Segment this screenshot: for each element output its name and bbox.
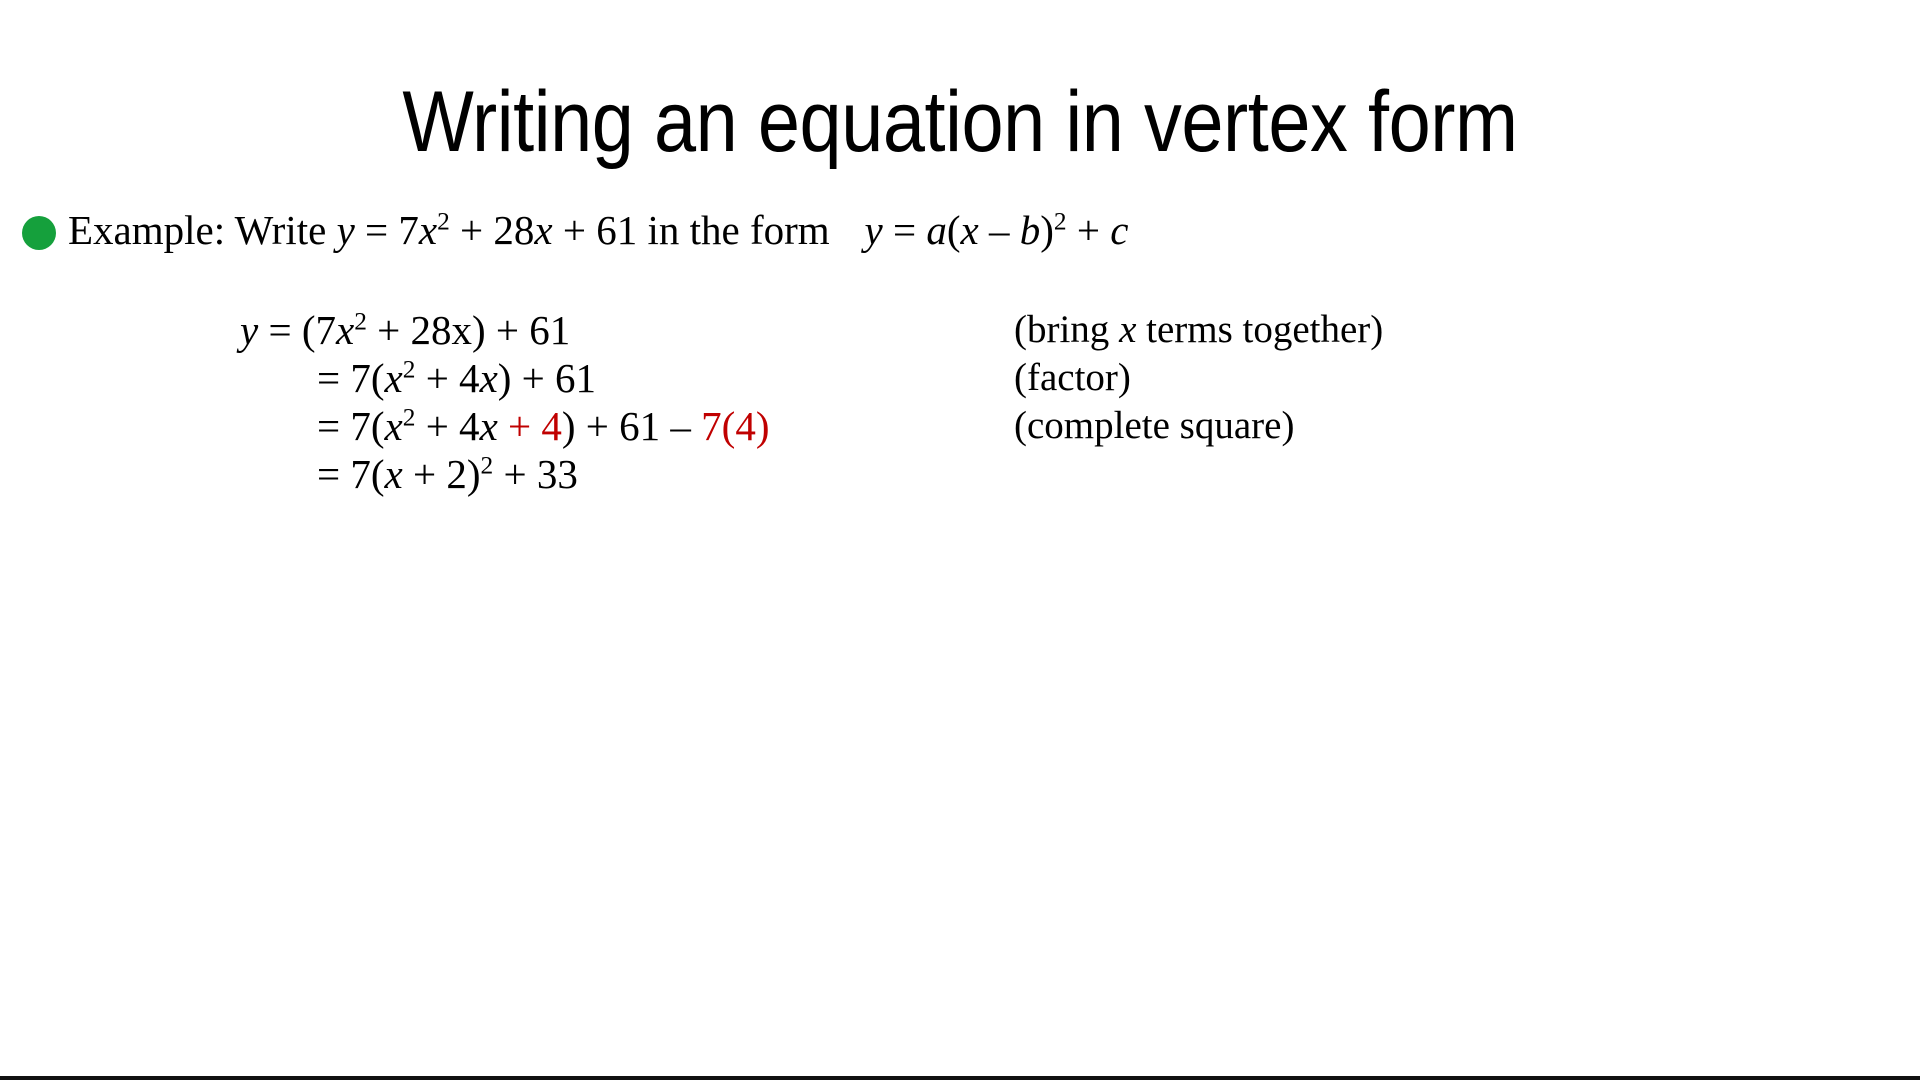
derivation-block: y = (7x2 + 28x) + 61 (bring x terms toge… <box>0 306 1920 498</box>
derivation-row: = 7(x + 2)2 + 33 <box>0 450 1920 498</box>
derivation-equation: y = (7x2 + 28x) + 61 <box>240 306 570 354</box>
derivation-note: (bring x terms together) <box>1014 306 1383 354</box>
slide: Writing an equation in vertex form Examp… <box>0 0 1920 1080</box>
page-title: Writing an equation in vertex form <box>115 74 1805 170</box>
derivation-row: = 7(x2 + 4x) + 61 (factor) <box>0 354 1920 402</box>
derivation-note: (complete square) <box>1014 402 1294 450</box>
example-bullet-row: Example: Write y = 7x2 + 28x + 61 in the… <box>22 206 1128 254</box>
derivation-equation: = 7(x2 + 4x + 4) + 61 – 7(4) <box>317 402 769 450</box>
example-statement: Example: Write y = 7x2 + 28x + 61 in the… <box>68 206 1128 254</box>
derivation-equation: = 7(x2 + 4x) + 61 <box>317 354 596 402</box>
derivation-note: (factor) <box>1014 354 1131 402</box>
filled-circle-bullet-icon <box>22 216 56 250</box>
derivation-row: = 7(x2 + 4x + 4) + 61 – 7(4) (complete s… <box>0 402 1920 450</box>
derivation-row: y = (7x2 + 28x) + 61 (bring x terms toge… <box>0 306 1920 354</box>
derivation-equation: = 7(x + 2)2 + 33 <box>317 450 578 498</box>
subtracted-term-highlight: 7(4) <box>701 403 769 449</box>
added-term-highlight: + 4 <box>508 403 562 449</box>
